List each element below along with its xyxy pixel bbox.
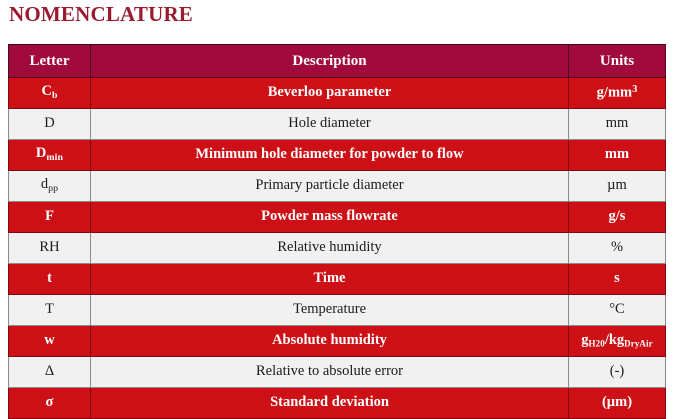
cell-letter: F [9,202,91,233]
table-body: CbBeverloo parameterg/mm3DHole diameterm… [9,78,666,419]
table-row: RHRelative humidity% [9,233,666,264]
document-page: NOMENCLATURE Letter Description Units Cb… [0,0,673,408]
nomenclature-table-wrapper: Letter Description Units CbBeverloo para… [8,44,665,419]
table-row: dppPrimary particle diameterµm [9,171,666,202]
cell-letter: σ [9,388,91,419]
table-row: CbBeverloo parameterg/mm3 [9,78,666,109]
cell-letter: t [9,264,91,295]
units-subscript: H20 [589,338,605,348]
column-header-units: Units [569,45,666,78]
cell-units: g/mm3 [569,78,666,109]
cell-units: g/s [569,202,666,233]
units-superscript: 3 [632,84,637,95]
cell-description: Minimum hole diameter for powder to flow [91,140,569,171]
cell-description: Absolute humidity [91,326,569,357]
cell-description: Primary particle diameter [91,171,569,202]
table-row: FPowder mass flowrateg/s [9,202,666,233]
cell-units: gH20/kgDryAir [569,326,666,357]
table-head: Letter Description Units [9,45,666,78]
table-row: TTemperature°C [9,295,666,326]
cell-units: mm [569,109,666,140]
table-row: ΔRelative to absolute error(-) [9,357,666,388]
cell-units: µm [569,171,666,202]
cell-description: Powder mass flowrate [91,202,569,233]
cell-letter: T [9,295,91,326]
letter-subscript: b [52,90,58,101]
table-row: wAbsolute humiditygH20/kgDryAir [9,326,666,357]
cell-letter: dpp [9,171,91,202]
table-row: DHole diametermm [9,109,666,140]
cell-description: Standard deviation [91,388,569,419]
letter-subscript: min [46,152,63,163]
cell-description: Beverloo parameter [91,78,569,109]
cell-description: Time [91,264,569,295]
cell-units: mm [569,140,666,171]
cell-description: Relative to absolute error [91,357,569,388]
cell-units: (-) [569,357,666,388]
page-title: NOMENCLATURE [9,2,193,27]
cell-letter: Cb [9,78,91,109]
cell-units: s [569,264,666,295]
table-header-row: Letter Description Units [9,45,666,78]
column-header-description: Description [91,45,569,78]
cell-letter: RH [9,233,91,264]
cell-letter: Δ [9,357,91,388]
units-subscript: DryAir [624,338,653,348]
nomenclature-table: Letter Description Units CbBeverloo para… [8,44,666,419]
cell-letter: w [9,326,91,357]
table-row: DminMinimum hole diameter for powder to … [9,140,666,171]
letter-subscript: pp [48,183,58,194]
cell-units: °C [569,295,666,326]
cell-units: (µm) [569,388,666,419]
cell-units: % [569,233,666,264]
column-header-letter: Letter [9,45,91,78]
cell-description: Hole diameter [91,109,569,140]
cell-letter: D [9,109,91,140]
cell-description: Relative humidity [91,233,569,264]
table-row: tTimes [9,264,666,295]
cell-description: Temperature [91,295,569,326]
table-row: σStandard deviation(µm) [9,388,666,419]
cell-letter: Dmin [9,140,91,171]
